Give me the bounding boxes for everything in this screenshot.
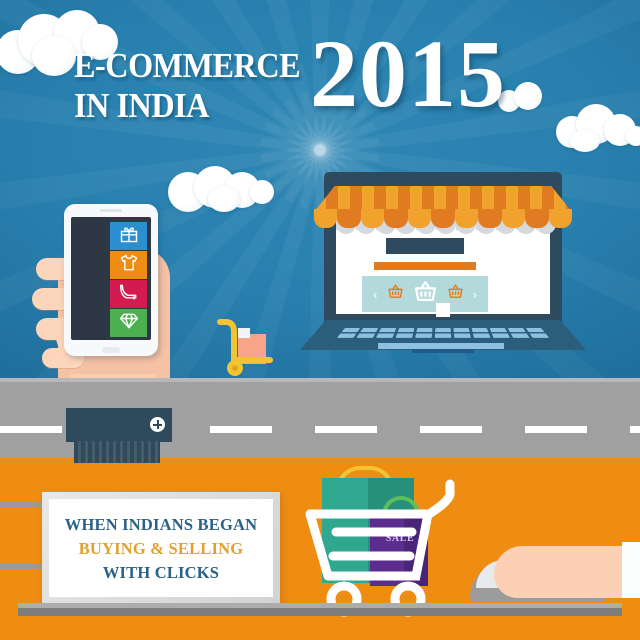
app-tile-footwear[interactable] <box>110 280 147 308</box>
tshirt-icon <box>119 253 139 278</box>
chevron-left-icon[interactable]: ‹ <box>373 288 377 301</box>
gift-icon <box>119 224 139 249</box>
laptop-logo <box>436 303 450 317</box>
product-carousel[interactable]: ‹ › <box>362 276 488 312</box>
keyboard-key[interactable] <box>415 333 432 337</box>
desk-surface <box>18 608 622 616</box>
keyboard-key[interactable] <box>435 328 451 332</box>
caption-box: WHEN INDIANS BEGAN BUYING & SELLING WITH… <box>42 492 280 604</box>
caption-line-1: WHEN INDIANS BEGAN <box>65 514 257 535</box>
sleeve-band <box>66 408 172 442</box>
keyboard-key[interactable] <box>508 328 526 332</box>
chevron-right-icon[interactable]: › <box>473 288 477 301</box>
keyboard-row <box>337 333 549 337</box>
keyboard-key[interactable] <box>492 333 510 337</box>
title-line-2: IN INDIA <box>74 86 300 126</box>
laptop-storefront: ‹ › <box>300 172 586 380</box>
keyboard-key[interactable] <box>337 333 357 337</box>
laptop-hinge <box>412 349 474 353</box>
phone-home-button[interactable] <box>102 347 120 353</box>
keyboard-key[interactable] <box>526 328 545 332</box>
caption-line-2: BUYING & SELLING <box>79 538 244 559</box>
keyboard-key[interactable] <box>472 328 489 332</box>
shopping-cart-illustration: SALE <box>300 466 490 626</box>
heel-icon <box>119 282 139 307</box>
keyboard-key[interactable] <box>376 333 394 337</box>
keyboard-key[interactable] <box>341 328 360 332</box>
keyboard-key[interactable] <box>490 328 507 332</box>
band-stripe-1 <box>0 502 46 507</box>
phone-speaker <box>100 209 122 212</box>
app-tile-jewellery[interactable] <box>110 309 147 337</box>
keyboard-key[interactable] <box>454 333 471 337</box>
store-accent-bar <box>374 262 476 270</box>
app-tile-gifts[interactable] <box>110 222 147 250</box>
keyboard-key[interactable] <box>398 328 415 332</box>
sleeve-button-icon <box>150 417 165 432</box>
caption-line-3: WITH CLICKS <box>103 562 219 583</box>
keyboard-row <box>341 328 544 332</box>
app-tile-apparel[interactable] <box>110 251 147 279</box>
cart-frame-icon <box>300 466 490 626</box>
keyboard-key[interactable] <box>356 333 375 337</box>
caption-inner: WHEN INDIANS BEGAN BUYING & SELLING WITH… <box>49 499 273 597</box>
keyboard-key[interactable] <box>453 328 469 332</box>
band-stripe-2 <box>0 564 46 569</box>
smartphone[interactable] <box>64 204 158 356</box>
sleeve-fringe <box>74 441 160 463</box>
keyboard-key[interactable] <box>379 328 396 332</box>
keyboard-key[interactable] <box>396 333 414 337</box>
poster-title: E-COMMERCE IN INDIA <box>74 46 320 126</box>
keyboard-key[interactable] <box>473 333 491 337</box>
store-awning <box>314 186 572 228</box>
keyboard-key[interactable] <box>360 328 378 332</box>
cloud-top-right <box>556 102 640 152</box>
keyboard-key[interactable] <box>435 333 451 337</box>
laptop-keyboard[interactable] <box>324 328 562 340</box>
infographic-poster: E-COMMERCE IN INDIA 2015 <box>0 0 640 640</box>
mouse-hand-cuff <box>622 542 640 598</box>
phone-screen[interactable] <box>71 217 151 340</box>
app-tile-list <box>110 222 147 338</box>
poster-year: 2015 <box>310 26 506 122</box>
hand-truck-icon <box>212 312 282 378</box>
keyboard-key[interactable] <box>530 333 550 337</box>
keyboard-key[interactable] <box>511 333 530 337</box>
awning-scallop <box>314 209 572 228</box>
store-signboard <box>386 238 464 254</box>
basket-icon-prev[interactable] <box>387 283 404 305</box>
diamond-icon <box>119 311 139 336</box>
keyboard-key[interactable] <box>416 328 432 332</box>
basket-icon-active[interactable] <box>413 279 438 309</box>
title-line-1: E-COMMERCE <box>74 46 300 86</box>
basket-icon-next[interactable] <box>447 283 464 305</box>
